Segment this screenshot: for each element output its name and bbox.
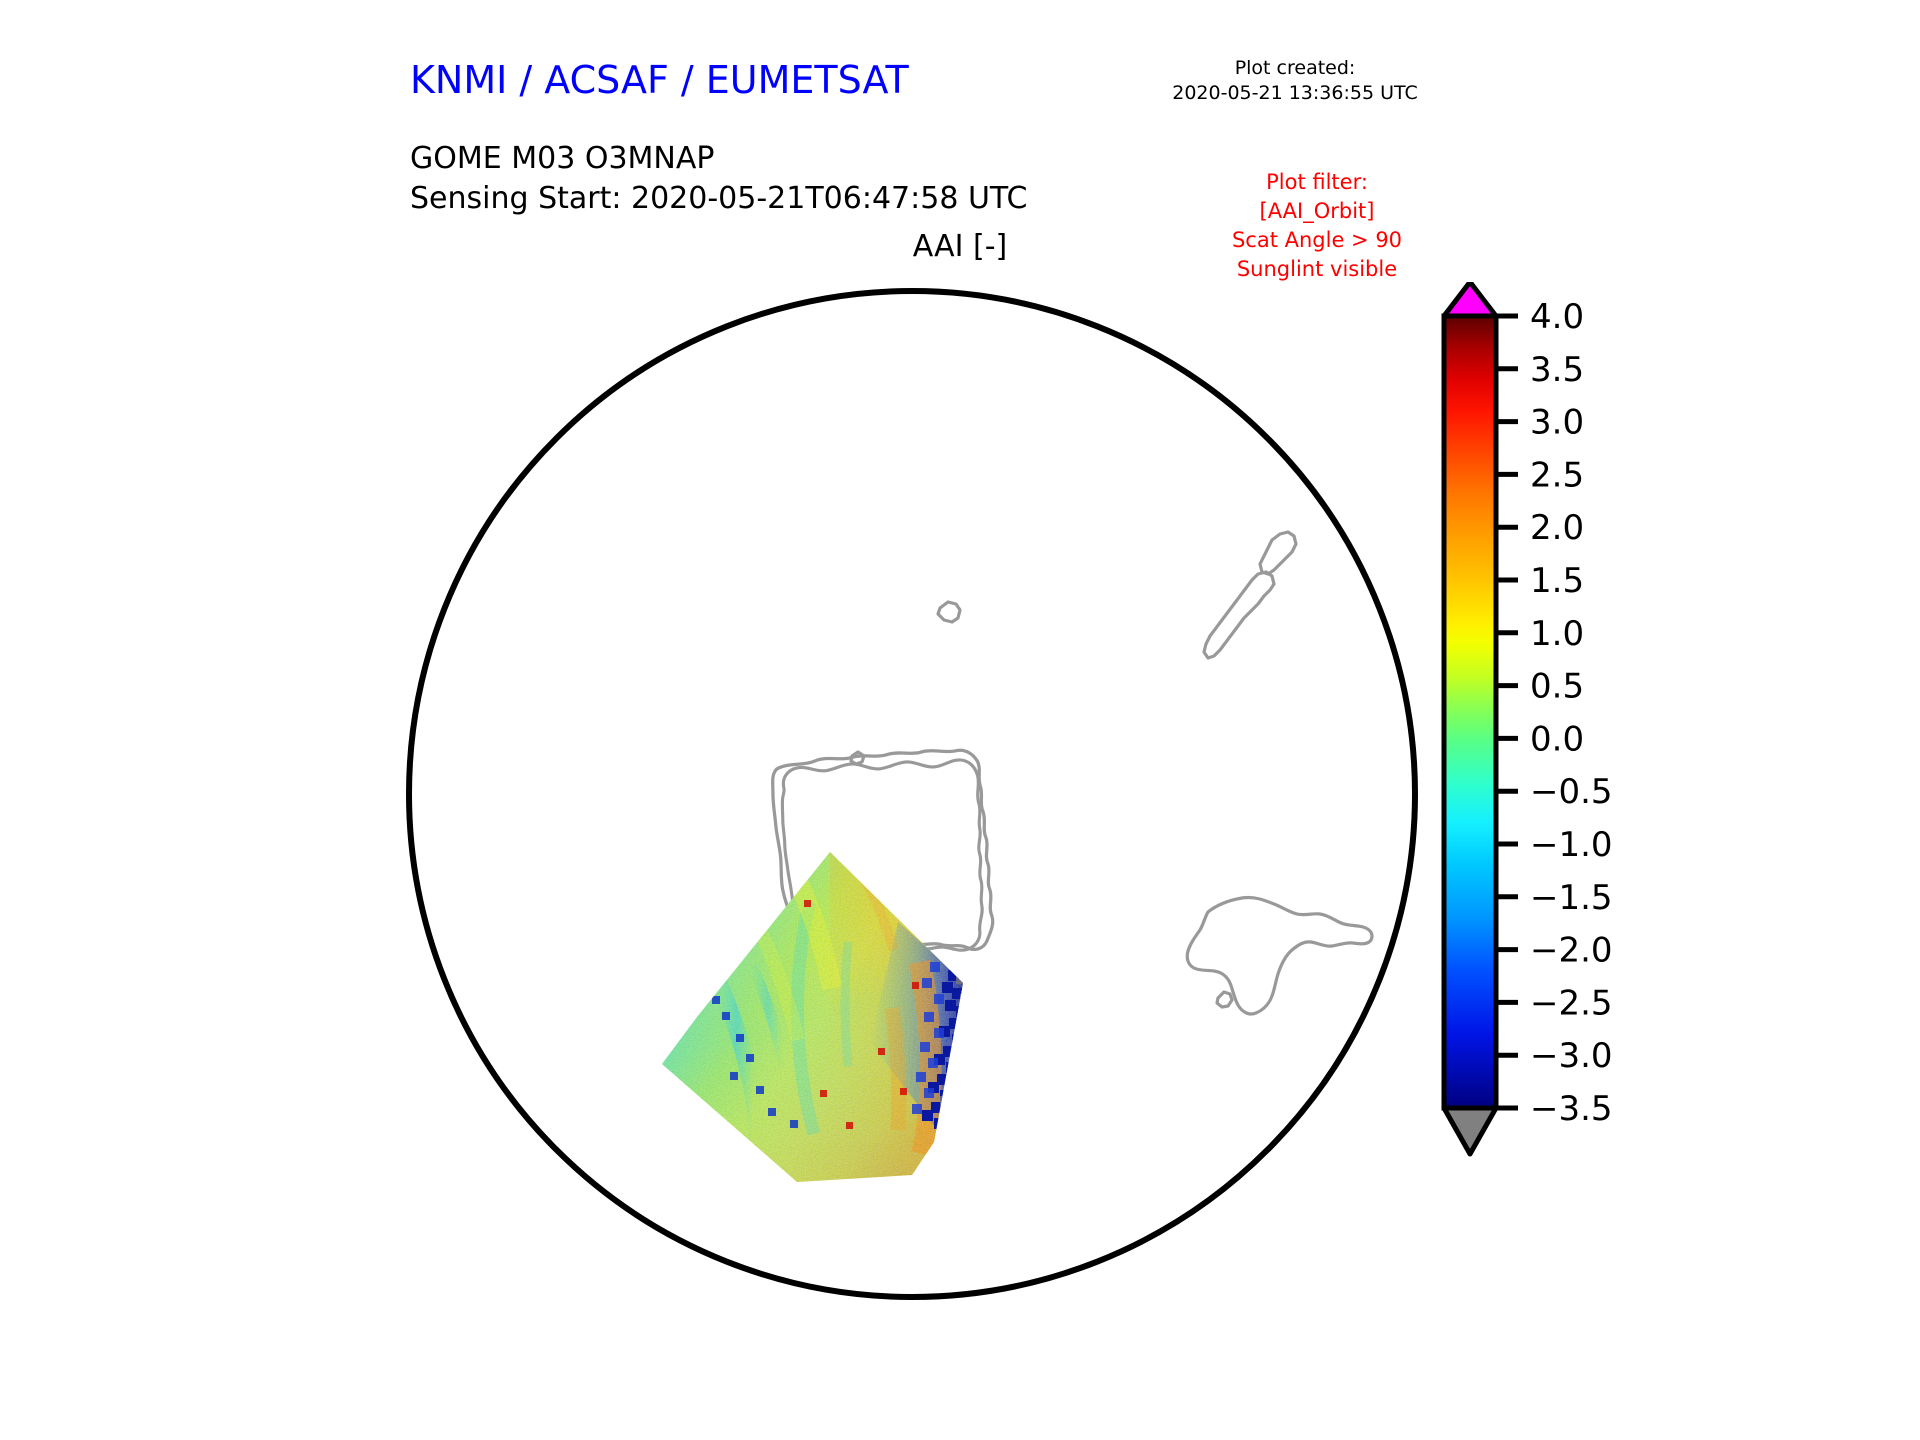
map-svg [400,282,1424,1306]
colorbar-tick-label: 0.0 [1530,719,1584,759]
colorbar-tick-label: −3.5 [1530,1089,1613,1129]
colorbar-under-arrow [1444,1108,1496,1154]
colorbar-panel: 4.03.53.02.52.01.51.00.50.0−0.5−1.0−1.5−… [1434,282,1854,1322]
map-panel [400,282,1424,1306]
colorbar-tick-label: 3.0 [1530,403,1584,443]
colorbar-tick-label: −2.0 [1530,931,1613,971]
colorbar-gradient [1444,316,1496,1108]
colorbar-tick-label: 1.0 [1530,614,1584,654]
colorbar-tick-label: −1.0 [1530,825,1613,865]
sensing-start: Sensing Start: 2020-05-21T06:47:58 UTC [410,179,1027,219]
colorbar-tick-label: −3.0 [1530,1036,1613,1076]
plot-filter-label: Plot filter: [1152,168,1482,197]
colorbar-tick-label: 3.5 [1530,350,1584,390]
colorbar-over-arrow [1444,282,1496,316]
colorbar-tick-label: 2.5 [1530,455,1584,495]
plot-canvas: KNMI / ACSAF / EUMETSAT Plot created: 20… [0,0,1920,1440]
plot-filter-sunglint: Sunglint visible [1152,255,1482,284]
plot-filter-dataset: [AAI_Orbit] [1152,197,1482,226]
colorbar-ticks-group: 4.03.53.02.52.01.51.00.50.0−0.5−1.0−1.5−… [1496,297,1613,1129]
colorbar-svg: 4.03.53.02.52.01.51.00.50.0−0.5−1.0−1.5−… [1434,282,1854,1322]
colorbar-tick-label: 2.0 [1530,508,1584,548]
plot-created-label: Plot created: [1110,56,1480,81]
plot-created-timestamp: 2020-05-21 13:36:55 UTC [1110,81,1480,106]
colorbar-tick-label: 0.5 [1530,667,1584,707]
product-title-block: GOME M03 O3MNAP Sensing Start: 2020-05-2… [410,139,1027,219]
plot-filter-scat-angle: Scat Angle > 90 [1152,226,1482,255]
colorbar-tick-label: −2.5 [1530,983,1613,1023]
product-name: GOME M03 O3MNAP [410,139,1027,179]
plot-filter-block: Plot filter: [AAI_Orbit] Scat Angle > 90… [1152,168,1482,284]
colorbar-tick-label: −0.5 [1530,772,1613,812]
colorbar-tick-label: 1.5 [1530,561,1584,601]
plot-created-block: Plot created: 2020-05-21 13:36:55 UTC [1110,56,1480,107]
organisation-title: KNMI / ACSAF / EUMETSAT [410,58,909,102]
colorbar-tick-label: 4.0 [1530,297,1584,337]
quantity-label: AAI [-] [740,229,1180,264]
colorbar-tick-label: −1.5 [1530,878,1613,918]
